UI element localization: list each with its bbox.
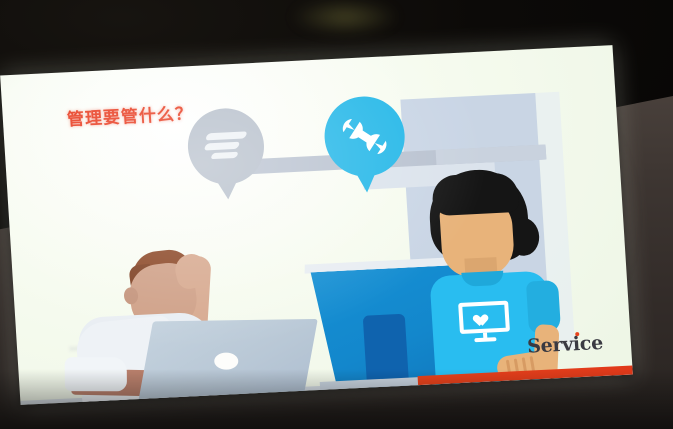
- gray-speech-bubble: [186, 107, 268, 211]
- monitor-heart-icon: [458, 300, 517, 347]
- screenshot-stage: 管理要管什么？: [0, 0, 673, 429]
- ceiling-light-smudge: [270, 0, 420, 38]
- page-title: 管理要管什么？: [66, 99, 193, 130]
- logo-dot-letter-wrap: i: [572, 333, 580, 355]
- projected-slide: 管理要管什么？: [0, 45, 633, 405]
- tee-monitor-foot: [474, 337, 496, 342]
- tee-heart-shape: [477, 309, 491, 322]
- swoosh-icon: [204, 129, 250, 163]
- logo-dot-letter: i: [572, 333, 580, 355]
- slide-surface: 管理要管什么？: [0, 45, 633, 405]
- woman-hair-fringe: [431, 172, 519, 216]
- logo-text-before: Serv: [527, 333, 574, 357]
- cyan-speech-bubble: [322, 95, 408, 205]
- service-logo: Service: [527, 332, 604, 358]
- logo-text-after: ce: [579, 332, 603, 355]
- wrench-icon: [322, 95, 407, 179]
- laptop-logo: [214, 353, 238, 370]
- floor-shadow: [0, 369, 673, 429]
